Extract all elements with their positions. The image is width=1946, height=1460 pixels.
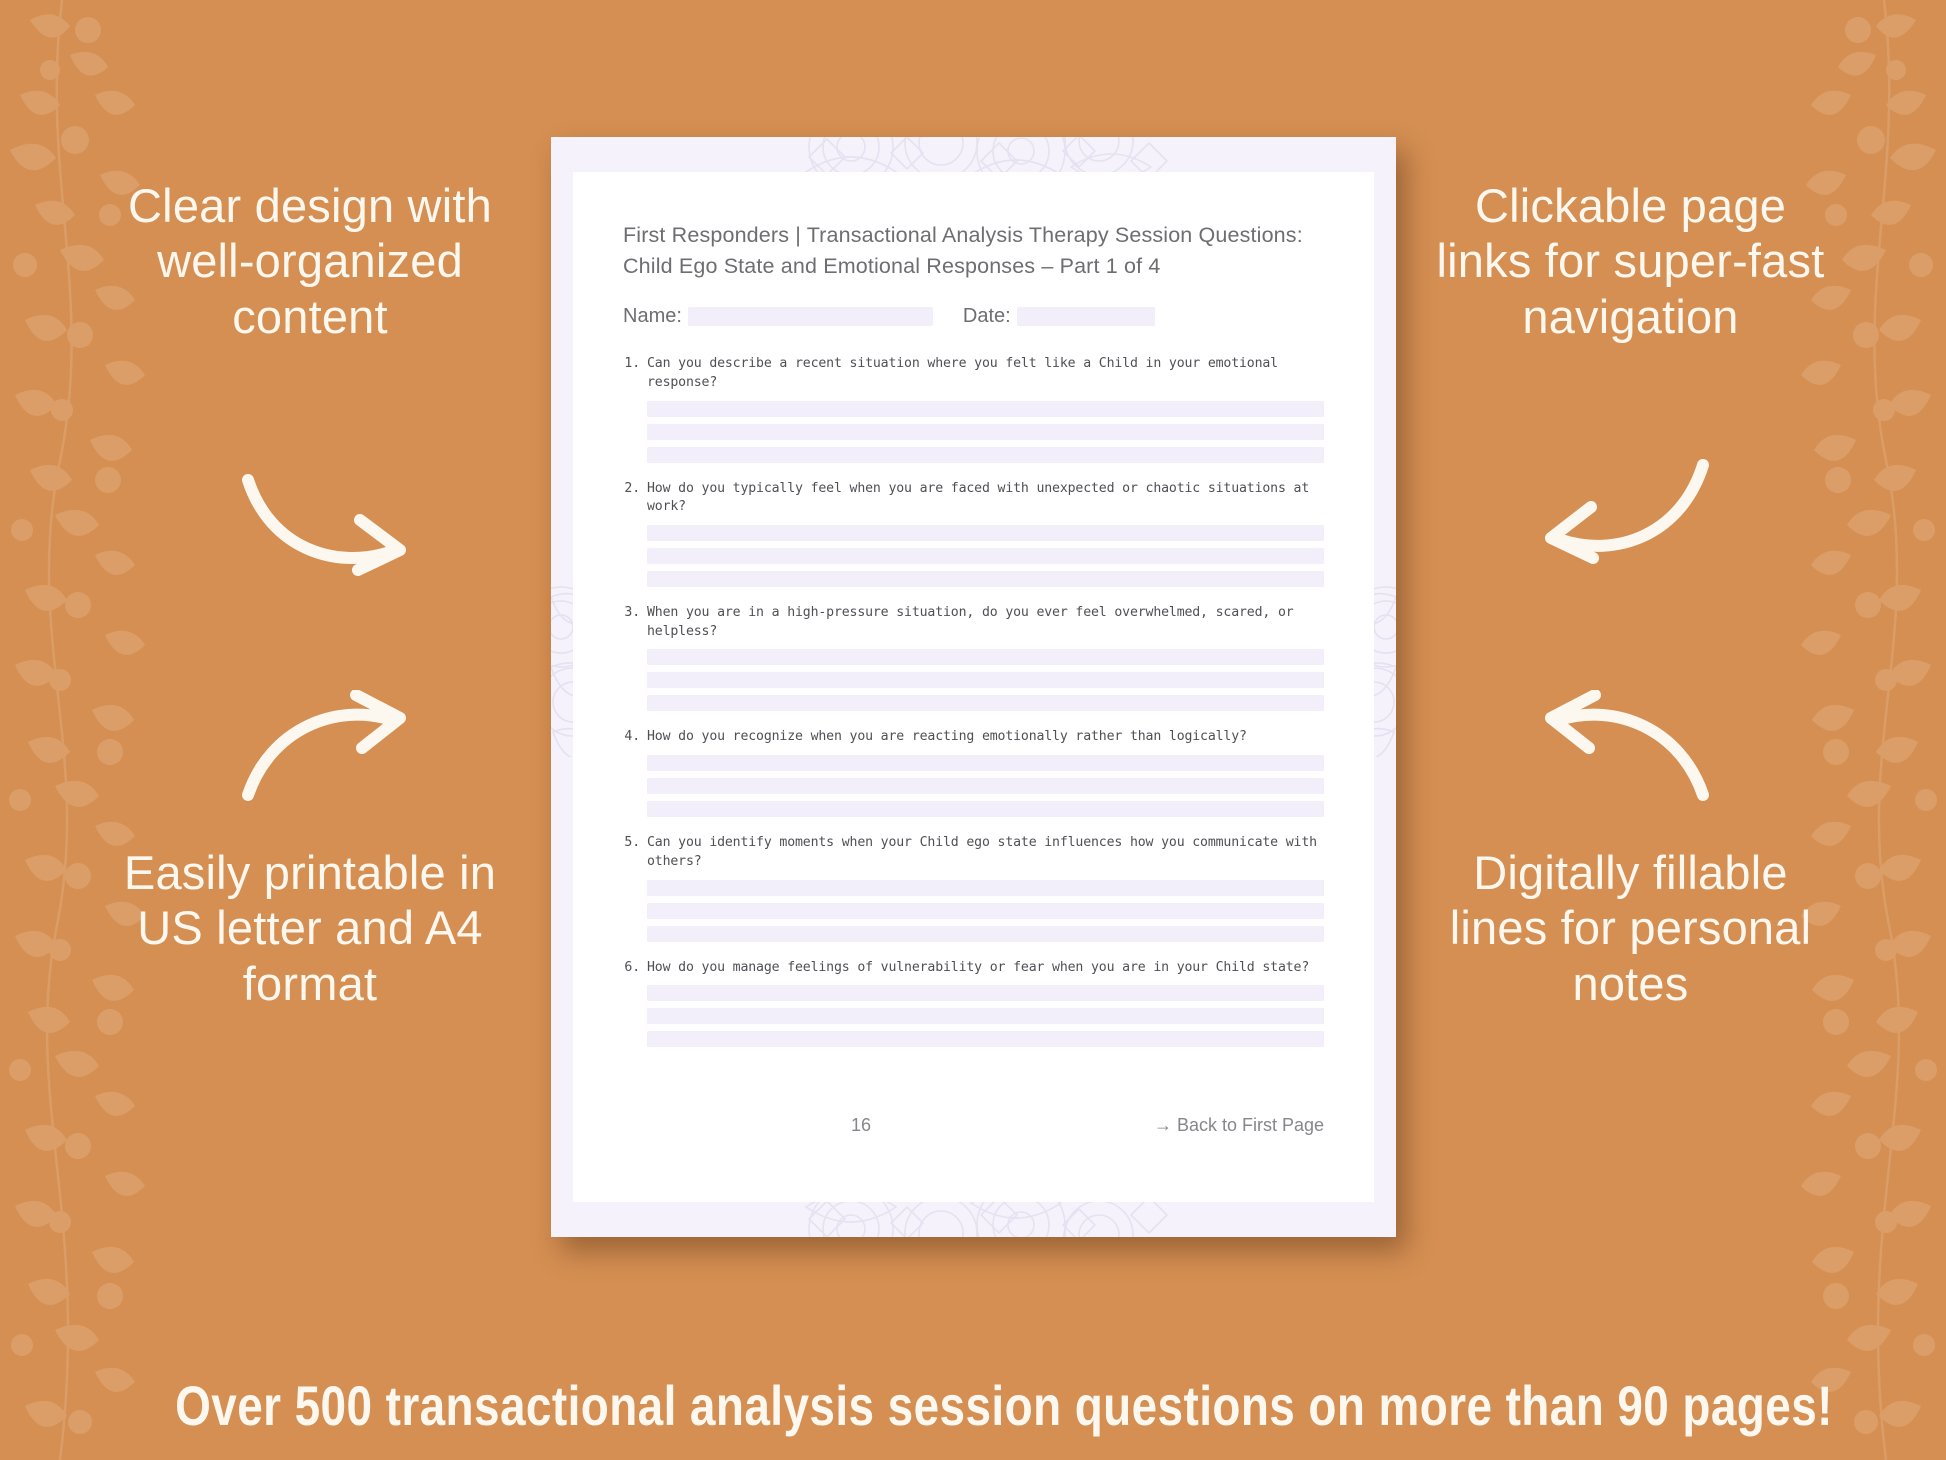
question-item: 5. Can you identify moments when your Ch…: [623, 834, 1324, 941]
document-title-line-1: First Responders | Transactional Analysi…: [623, 220, 1324, 251]
date-input[interactable]: [1017, 307, 1155, 326]
question-text: How do you recognize when you are reacti…: [647, 728, 1324, 747]
question-item: 3. When you are in a high-pressure situa…: [623, 604, 1324, 711]
questions-list: 1. Can you describe a recent situation w…: [623, 355, 1324, 1047]
document-footer: 16 → Back to First Page: [623, 1115, 1324, 1136]
curved-arrow-up-left-icon: [1536, 690, 1711, 805]
answer-line[interactable]: [647, 447, 1324, 463]
question-number: 2.: [623, 480, 647, 517]
answer-lines: [647, 755, 1324, 817]
name-label: Name:: [623, 305, 682, 328]
answer-line[interactable]: [647, 985, 1324, 1001]
question-text: How do you typically feel when you are f…: [647, 480, 1324, 517]
answer-line[interactable]: [647, 1008, 1324, 1024]
answer-line[interactable]: [647, 548, 1324, 564]
date-label: Date:: [963, 305, 1011, 328]
back-to-first-page-link[interactable]: → Back to First Page: [1154, 1115, 1324, 1136]
question-text: Can you identify moments when your Child…: [647, 834, 1324, 871]
curved-arrow-down-left-icon: [1536, 455, 1711, 575]
name-input[interactable]: [688, 307, 933, 326]
document-title: First Responders | Transactional Analysi…: [623, 220, 1324, 281]
answer-line[interactable]: [647, 801, 1324, 817]
curved-arrow-down-right-icon: [240, 470, 415, 585]
answer-lines: [647, 880, 1324, 942]
answer-line[interactable]: [647, 926, 1324, 942]
question-number: 6.: [623, 959, 647, 978]
promo-text-fillable-lines: Digitally fillable lines for personal no…: [1423, 845, 1838, 1011]
question-item: 2. How do you typically feel when you ar…: [623, 480, 1324, 587]
question-text: When you are in a high-pressure situatio…: [647, 604, 1324, 641]
answer-line[interactable]: [647, 401, 1324, 417]
question-item: 4. How do you recognize when you are rea…: [623, 728, 1324, 817]
question-item: 1. Can you describe a recent situation w…: [623, 355, 1324, 462]
document-page-preview[interactable]: First Responders | Transactional Analysi…: [551, 137, 1396, 1237]
question-item: 6. How do you manage feelings of vulnera…: [623, 959, 1324, 1048]
document-content-area: First Responders | Transactional Analysi…: [573, 172, 1374, 1202]
document-subtitle-text: Child Ego State and Emotional Responses: [623, 254, 1035, 278]
question-number: 3.: [623, 604, 647, 641]
question-number: 4.: [623, 728, 647, 747]
answer-line[interactable]: [647, 571, 1324, 587]
answer-line[interactable]: [647, 755, 1324, 771]
promo-text-printable: Easily printable in US letter and A4 for…: [110, 845, 510, 1011]
document-part-indicator: – Part 1 of 4: [1041, 254, 1160, 278]
curved-arrow-up-right-icon: [240, 690, 415, 805]
answer-line[interactable]: [647, 525, 1324, 541]
answer-line[interactable]: [647, 1031, 1324, 1047]
document-title-line-2: Child Ego State and Emotional Responses …: [623, 251, 1324, 282]
name-date-row: Name: Date:: [623, 305, 1324, 328]
answer-lines: [647, 401, 1324, 463]
promo-text-clickable-links: Clickable page links for super-fast navi…: [1423, 178, 1838, 344]
answer-lines: [647, 525, 1324, 587]
bottom-banner-text: Over 500 transactional analysis session …: [175, 1373, 1771, 1438]
answer-lines: [647, 985, 1324, 1047]
answer-line[interactable]: [647, 649, 1324, 665]
page-number: 16: [851, 1115, 871, 1136]
answer-line[interactable]: [647, 424, 1324, 440]
answer-line[interactable]: [647, 672, 1324, 688]
answer-line[interactable]: [647, 778, 1324, 794]
promo-text-clear-design: Clear design with well-organized content: [110, 178, 510, 344]
answer-line[interactable]: [647, 903, 1324, 919]
answer-lines: [647, 649, 1324, 711]
answer-line[interactable]: [647, 695, 1324, 711]
question-number: 1.: [623, 355, 647, 392]
question-text: Can you describe a recent situation wher…: [647, 355, 1324, 392]
question-text: How do you manage feelings of vulnerabil…: [647, 959, 1324, 978]
answer-line[interactable]: [647, 880, 1324, 896]
question-number: 5.: [623, 834, 647, 871]
